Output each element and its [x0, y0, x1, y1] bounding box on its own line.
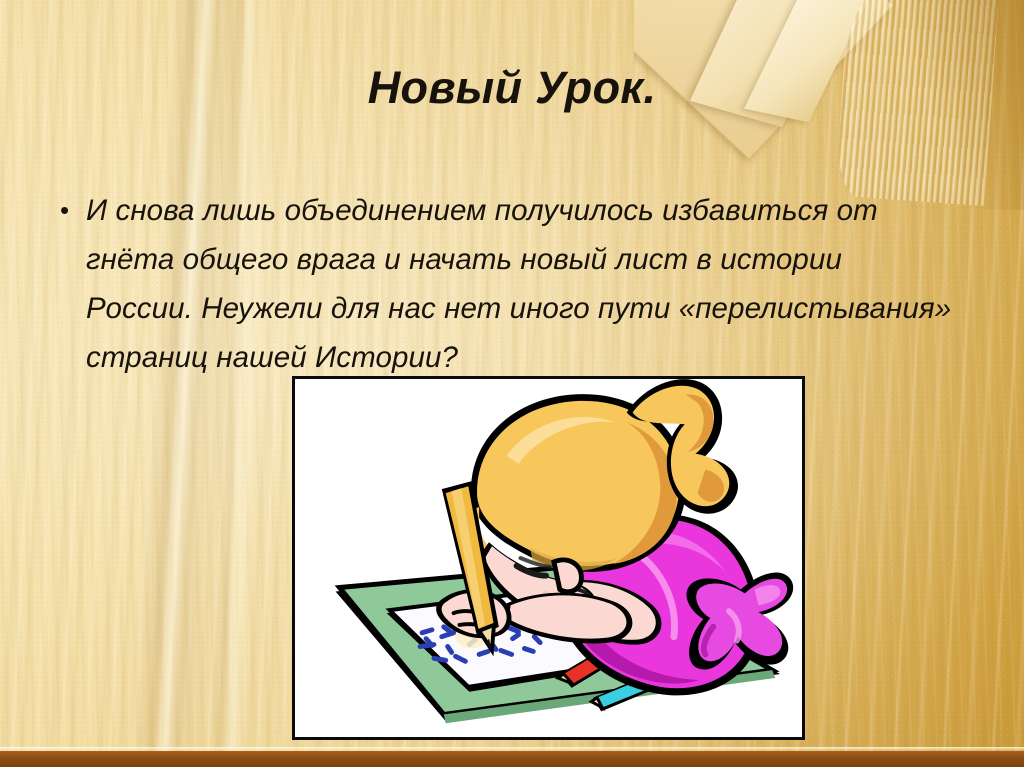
page-title: Новый Урок. [0, 62, 1024, 114]
bottom-wood-band [0, 751, 1024, 767]
slide: Новый Урок. • И снова лишь объединением … [0, 0, 1024, 767]
clipart-image-frame [292, 376, 805, 740]
body-text-block: • И снова лишь объединением получилось и… [52, 186, 952, 382]
girl-writing-illustration [295, 379, 802, 737]
bullet-marker-icon: • [52, 186, 86, 235]
bullet-item-text: И снова лишь объединением получилось изб… [86, 186, 952, 382]
bullet-list-item: • И снова лишь объединением получилось и… [52, 186, 952, 382]
